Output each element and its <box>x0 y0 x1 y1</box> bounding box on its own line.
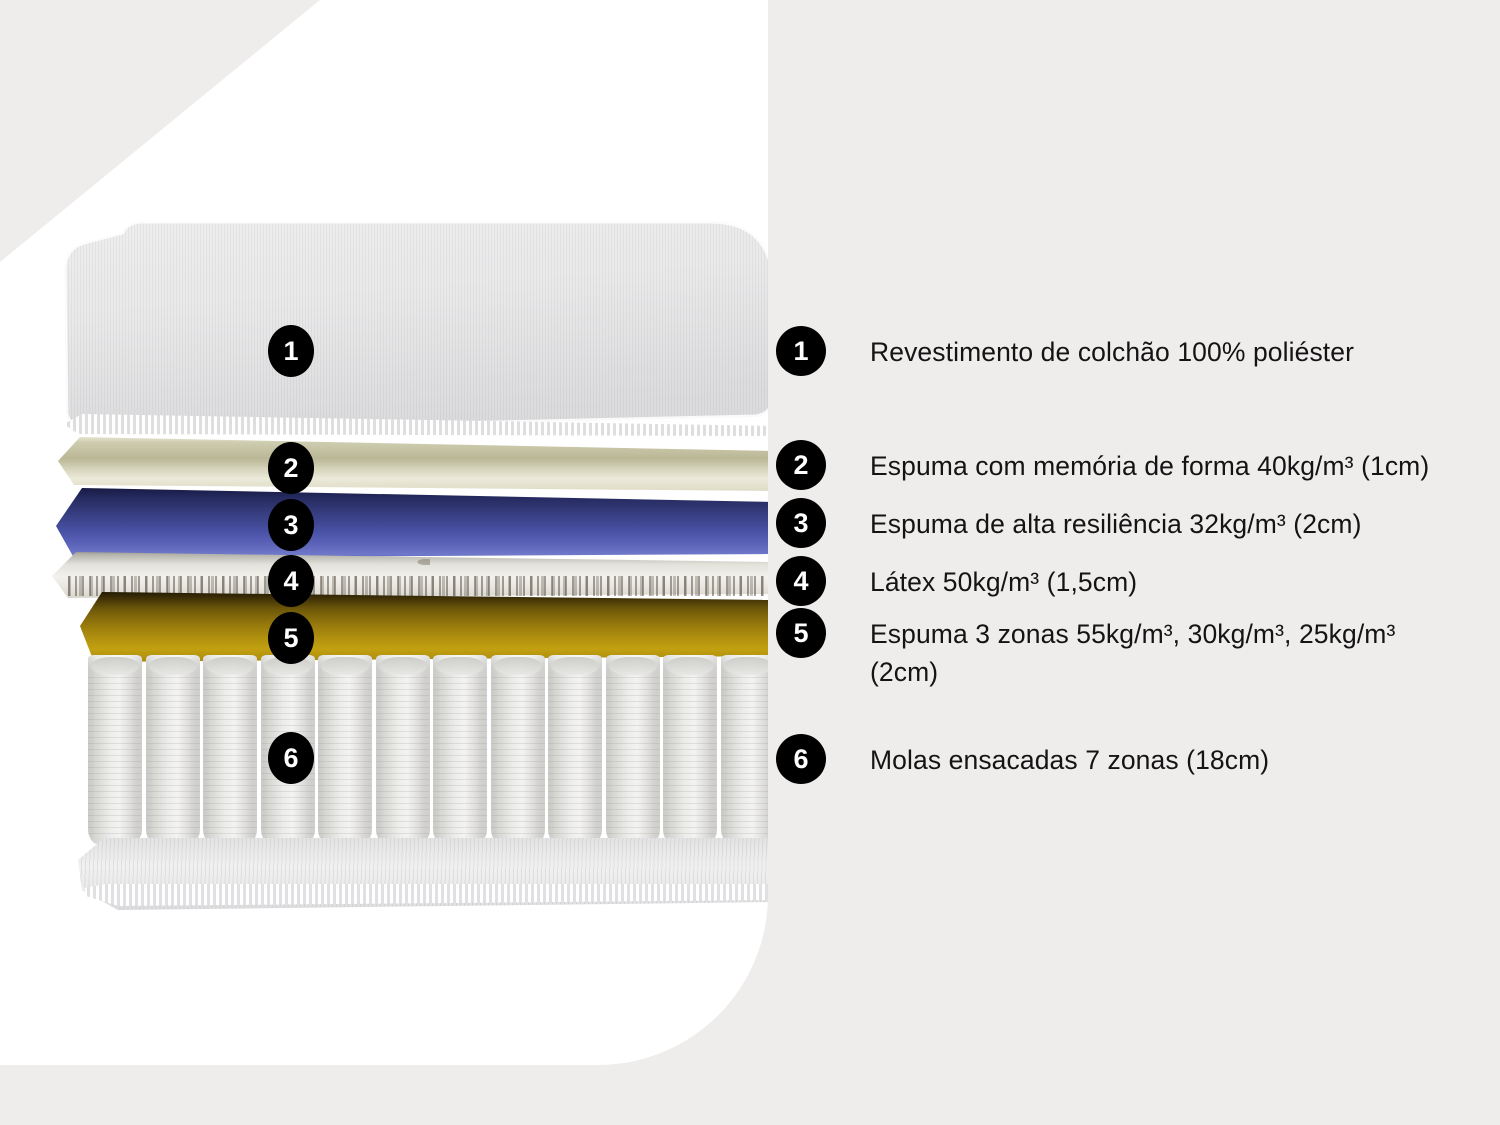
legend-badge-6: 6 <box>776 734 826 784</box>
pocket-spring <box>548 655 602 845</box>
legend-badge-4: 4 <box>776 556 826 606</box>
legend-label-3: Espuma de alta resiliência 32kg/m³ (2cm) <box>870 498 1362 544</box>
mattress-layer-hr-foam <box>56 486 768 558</box>
legend-item-6: 6Molas ensacadas 7 zonas (18cm) <box>776 734 1269 784</box>
pocket-spring <box>491 655 545 845</box>
legend-label-6: Molas ensacadas 7 zonas (18cm) <box>870 734 1269 780</box>
overlay-badge-6: 6 <box>268 732 314 784</box>
pocket-spring <box>88 655 142 845</box>
pocket-spring <box>663 655 717 845</box>
overlay-badge-5: 5 <box>268 612 314 664</box>
legend-label-4: Látex 50kg/m³ (1,5cm) <box>870 556 1137 602</box>
legend-badge-5: 5 <box>776 608 826 658</box>
pocket-spring <box>721 655 769 845</box>
legend-item-3: 3Espuma de alta resiliência 32kg/m³ (2cm… <box>776 498 1362 548</box>
legend-item-5: 5Espuma 3 zonas 55kg/m³, 30kg/m³, 25kg/m… <box>776 608 1430 691</box>
overlay-badge-3: 3 <box>268 499 314 551</box>
pocket-spring <box>146 655 200 845</box>
legend-badge-3: 3 <box>776 498 826 548</box>
pocket-spring <box>433 655 487 845</box>
mattress-layer-memory-foam <box>58 433 768 491</box>
mattress-cutaway-illustration <box>0 0 768 1065</box>
pocket-spring <box>318 655 372 845</box>
mattress-layer-pocket-springs <box>88 655 768 845</box>
legend-label-1: Revestimento de colchão 100% poliéster <box>870 326 1354 372</box>
pocket-spring <box>376 655 430 845</box>
overlay-badge-2: 2 <box>268 442 314 494</box>
legend-label-2: Espuma com memória de forma 40kg/m³ (1cm… <box>870 440 1429 486</box>
latex-perforations <box>78 554 768 570</box>
mattress-layer-three-zone-foam <box>80 590 768 662</box>
pocket-spring <box>606 655 660 845</box>
legend-badge-1: 1 <box>776 326 826 376</box>
pocket-spring <box>203 655 257 845</box>
legend-label-5: Espuma 3 zonas 55kg/m³, 30kg/m³, 25kg/m³… <box>870 608 1430 691</box>
legend-item-2: 2Espuma com memória de forma 40kg/m³ (1c… <box>776 440 1429 490</box>
overlay-badge-4: 4 <box>268 555 314 607</box>
legend-item-4: 4Látex 50kg/m³ (1,5cm) <box>776 556 1137 606</box>
mattress-layer-cover <box>62 218 768 436</box>
legend-list: 1Revestimento de colchão 100% poliéster2… <box>776 0 1476 1125</box>
legend-item-1: 1Revestimento de colchão 100% poliéster <box>776 326 1354 376</box>
overlay-badge-1: 1 <box>268 325 314 377</box>
legend-badge-2: 2 <box>776 440 826 490</box>
